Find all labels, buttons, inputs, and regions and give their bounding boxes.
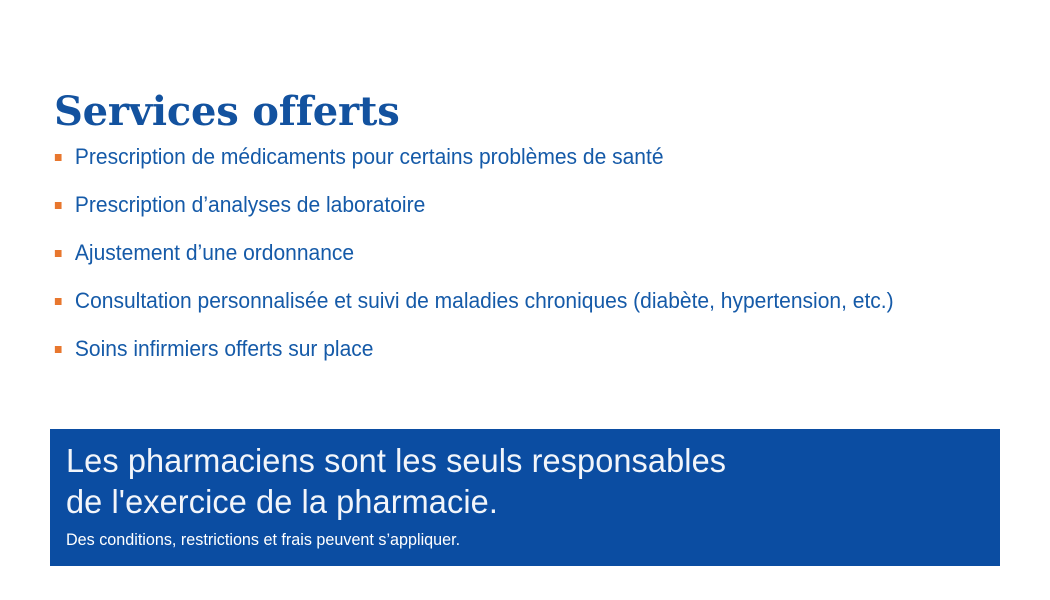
list-item: Prescription d’analyses de laboratoire [52, 188, 978, 222]
list-item-label: Prescription de médicaments pour certain… [75, 144, 664, 169]
list-item: Consultation personnalisée et suivi de m… [52, 284, 978, 318]
callout-banner: Les pharmaciens sont les seuls responsab… [50, 429, 1000, 566]
list-item: Prescription de médicaments pour certain… [52, 140, 978, 174]
callout-heading: Les pharmaciens sont les seuls responsab… [66, 440, 986, 522]
square-bullet-icon [55, 346, 62, 353]
square-bullet-icon [55, 154, 62, 161]
list-item-label: Prescription d’analyses de laboratoire [75, 192, 425, 217]
square-bullet-icon [55, 298, 62, 305]
list-item-label: Consultation personnalisée et suivi de m… [75, 288, 894, 313]
callout-subtext: Des conditions, restrictions et frais pe… [66, 528, 953, 552]
services-bullet-list: Prescription de médicaments pour certain… [52, 140, 1022, 366]
list-item-label: Ajustement d’une ordonnance [75, 240, 354, 265]
list-item: Soins infirmiers offerts sur place [52, 332, 978, 366]
list-item-label: Soins infirmiers offerts sur place [75, 336, 374, 361]
square-bullet-icon [55, 202, 62, 209]
list-item: Ajustement d’une ordonnance [52, 236, 978, 270]
slide-canvas: Services offerts Prescription de médicam… [0, 0, 1050, 600]
page-title: Services offerts [54, 89, 400, 135]
square-bullet-icon [55, 250, 62, 257]
